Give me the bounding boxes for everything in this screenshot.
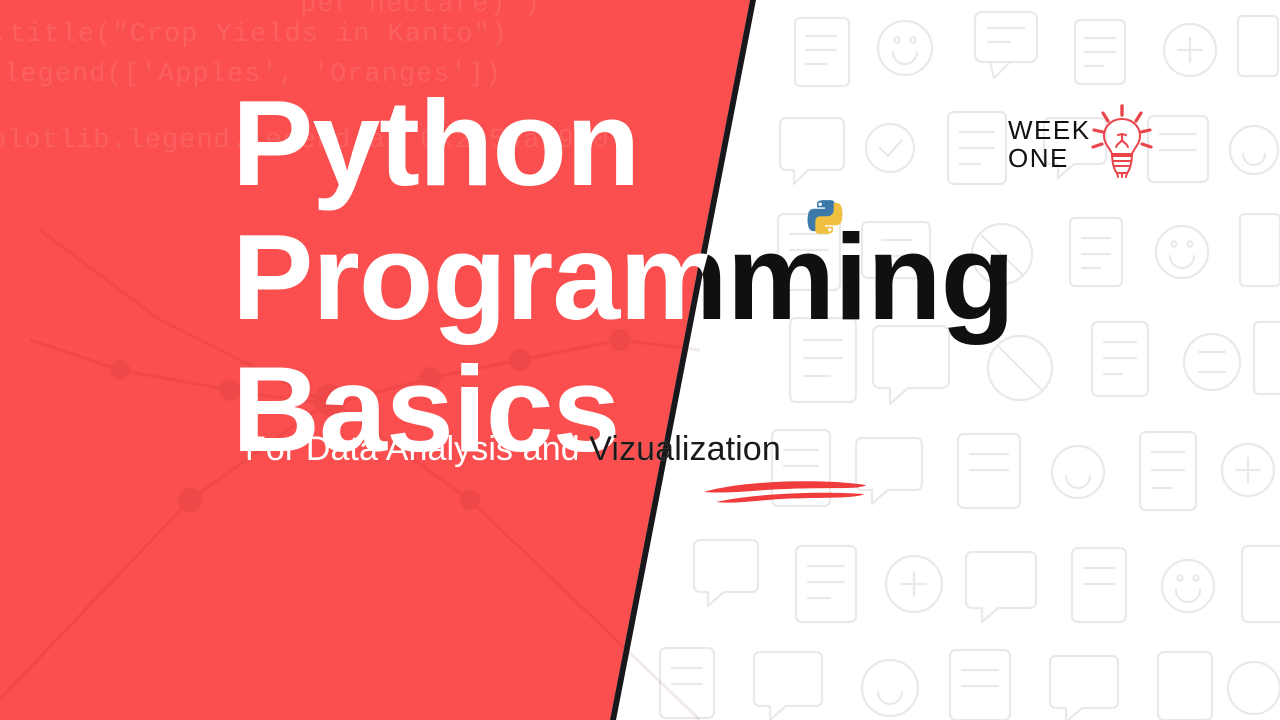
python-logo-icon bbox=[806, 198, 844, 236]
week-badge-text: WEEK ONE bbox=[1008, 116, 1091, 172]
brush-underline-icon bbox=[700, 476, 870, 506]
week-badge: WEEK ONE bbox=[1008, 108, 1155, 180]
lightbulb-icon bbox=[1089, 102, 1155, 180]
week-badge-line2: ONE bbox=[1008, 144, 1069, 172]
presentation-slide: per hectare)") .title("Crop Yields in Ka… bbox=[0, 0, 1280, 720]
week-badge-line1: WEEK bbox=[1008, 116, 1091, 144]
